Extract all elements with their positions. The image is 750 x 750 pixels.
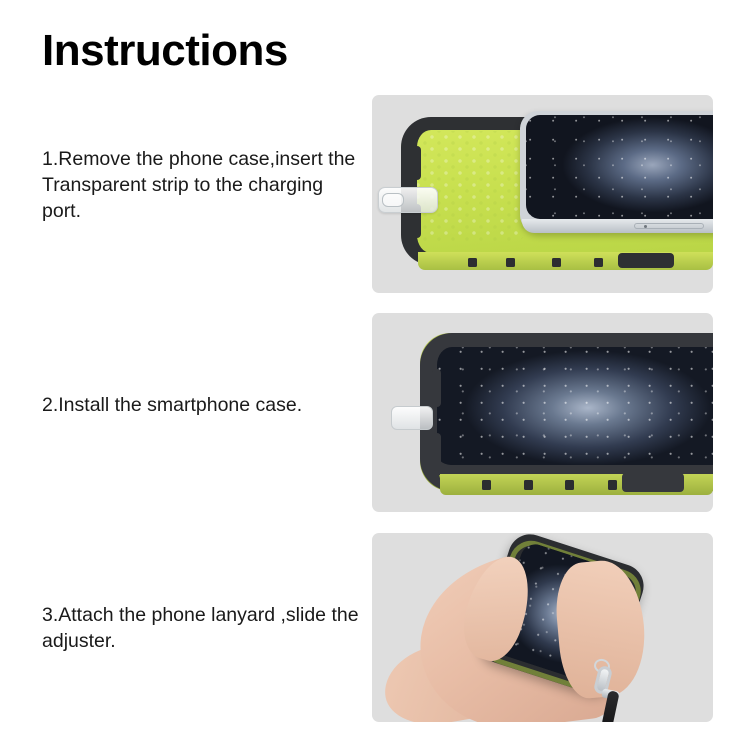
case-rubber-insert bbox=[622, 473, 684, 492]
step-2-photo bbox=[372, 313, 713, 512]
vent-slot-icon bbox=[594, 258, 603, 267]
vent-slot-icon bbox=[565, 480, 574, 490]
step-2-image-panel bbox=[372, 313, 713, 512]
vent-slot-icon bbox=[506, 258, 515, 267]
transparent-strip-icon bbox=[391, 406, 433, 430]
transparent-strip-tab bbox=[382, 193, 404, 207]
case-rubber-bumper bbox=[420, 333, 713, 491]
step-1-photo bbox=[372, 95, 713, 293]
page-title: Instructions bbox=[42, 28, 288, 74]
vent-slot-icon bbox=[608, 480, 617, 490]
phone-screen-wallpaper bbox=[526, 115, 713, 219]
step-1-image-panel bbox=[372, 95, 713, 293]
vent-slot-icon bbox=[552, 258, 561, 267]
vent-slot-icon bbox=[482, 480, 491, 490]
vent-slot-icon bbox=[468, 258, 477, 267]
case-rubber-insert bbox=[618, 253, 674, 268]
vent-slot-icon bbox=[524, 480, 533, 490]
step-3-photo bbox=[372, 533, 713, 722]
step-3-instruction-text: 3.Attach the phone lanyard ,slide the ad… bbox=[42, 602, 362, 654]
microphone-dot-icon bbox=[644, 225, 647, 228]
step-2-instruction-text: 2.Install the smartphone case. bbox=[42, 392, 362, 418]
step-1-instruction-text: 1.Remove the phone case,insert the Trans… bbox=[42, 146, 362, 224]
instructions-page: Instructions 1.Remove the phone case,ins… bbox=[0, 0, 750, 750]
step-3-image-panel bbox=[372, 533, 713, 722]
